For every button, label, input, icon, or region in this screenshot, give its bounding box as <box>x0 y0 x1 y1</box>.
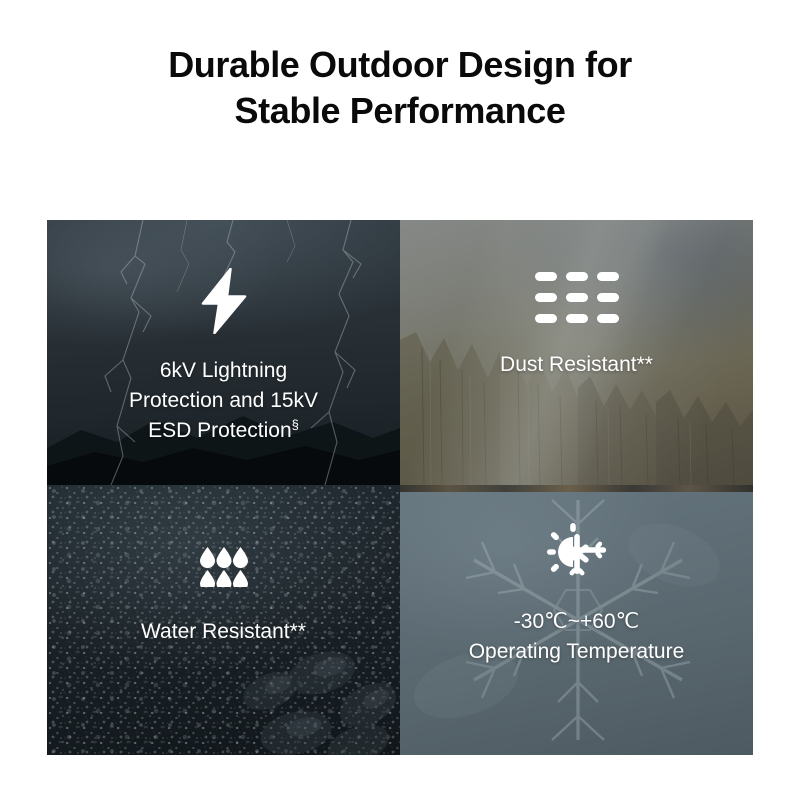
temperature-card-caption: -30℃~+60℃ Operating Temperature <box>469 607 685 667</box>
water-droplets-icon <box>200 547 248 587</box>
lightning-bolt-icon <box>195 268 253 334</box>
page-title: Durable Outdoor Design for Stable Perfor… <box>0 42 800 134</box>
lightning-footnote-marker: § <box>292 417 299 432</box>
dust-card-content: Dust Resistant** <box>400 220 753 380</box>
feature-card-lightning-protection: 6kV Lightning Protection and 15kV ESD Pr… <box>47 220 400 485</box>
dust-card-caption: Dust Resistant** <box>500 350 653 380</box>
feature-card-operating-temperature: -30℃~+60℃ Operating Temperature <box>400 485 753 755</box>
water-caption-text: Water Resistant** <box>141 620 306 643</box>
dust-caption-text: Dust Resistant** <box>500 353 653 376</box>
temperature-caption-text: -30℃~+60℃ Operating Temperature <box>469 610 685 663</box>
rock-texture-decoration <box>226 633 400 755</box>
dust-grid-icon <box>535 272 619 324</box>
feature-card-dust-resistant: Dust Resistant** <box>400 220 753 485</box>
temperature-card-content: -30℃~+60℃ Operating Temperature <box>400 485 753 667</box>
feature-highlight-page: Durable Outdoor Design for Stable Perfor… <box>0 0 800 800</box>
water-card-content: Water Resistant** <box>47 485 400 647</box>
lightning-card-caption: 6kV Lightning Protection and 15kV ESD Pr… <box>129 356 318 446</box>
feature-card-water-resistant: Water Resistant** <box>47 485 400 755</box>
lightning-card-content: 6kV Lightning Protection and 15kV ESD Pr… <box>47 220 400 446</box>
sun-snowflake-icon <box>547 523 607 581</box>
water-card-caption: Water Resistant** <box>141 617 306 647</box>
lightning-caption-text: 6kV Lightning Protection and 15kV ESD Pr… <box>129 359 318 442</box>
feature-grid: 6kV Lightning Protection and 15kV ESD Pr… <box>47 220 753 755</box>
